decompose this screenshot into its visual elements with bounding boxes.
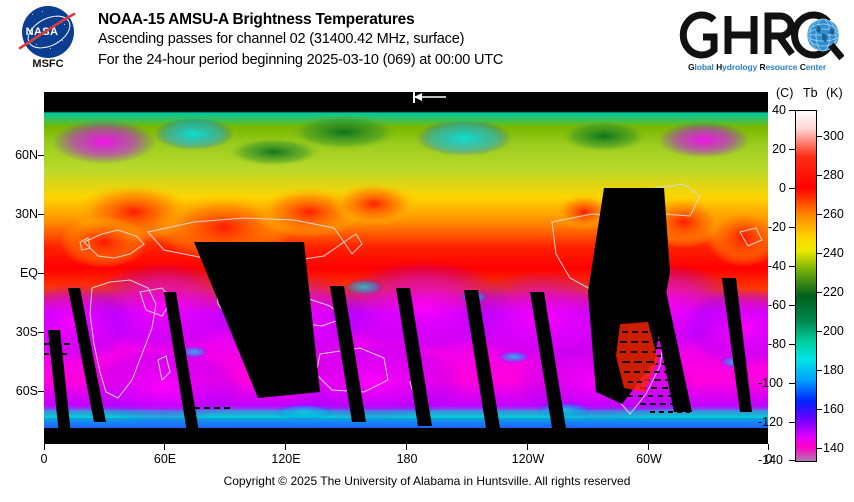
cb-tick-k-180 bbox=[816, 370, 822, 371]
cb-tick-k-260 bbox=[816, 214, 822, 215]
lon-label-180: 180 bbox=[384, 452, 430, 466]
copyright-notice: Copyright © 2025 The University of Alaba… bbox=[0, 474, 854, 488]
cb-label-k-220: 220 bbox=[823, 285, 854, 299]
cb-tick-c-m140 bbox=[789, 460, 795, 461]
cb-tick-c-0 bbox=[789, 188, 795, 189]
cb-label-k-160: 160 bbox=[823, 402, 854, 416]
lon-tick-120e bbox=[285, 444, 286, 450]
swath-direction-arrow-icon bbox=[408, 92, 448, 104]
lon-tick-60e bbox=[164, 444, 165, 450]
cb-tick-c-m80 bbox=[789, 344, 795, 345]
brightness-temperature-figure: NASA MSFC NOAA-15 AMSU-A Brightness Temp… bbox=[0, 0, 854, 502]
lon-label-0: 0 bbox=[21, 452, 67, 466]
cb-label-k-280: 280 bbox=[823, 168, 854, 182]
lat-label-60s: 60S bbox=[0, 384, 38, 398]
cb-tick-k-240 bbox=[816, 253, 822, 254]
cb-tick-c-20 bbox=[789, 149, 795, 150]
cb-label-c-m80: -80 bbox=[752, 337, 786, 351]
lon-label-60e: 60E bbox=[142, 452, 188, 466]
cb-tick-c-m120 bbox=[789, 422, 795, 423]
page-subtitle: Ascending passes for channel 02 (31400.4… bbox=[98, 29, 503, 50]
cb-tick-k-160 bbox=[816, 409, 822, 410]
nasa-center-label: MSFC bbox=[16, 58, 80, 70]
cb-label-c-40: 40 bbox=[752, 103, 786, 117]
nasa-swoosh-icon bbox=[16, 12, 80, 52]
cb-label-c-m60: -60 bbox=[752, 298, 786, 312]
lat-label-60n: 60N bbox=[0, 148, 38, 162]
cb-tick-k-280 bbox=[816, 175, 822, 176]
colorbar-unit-celsius: (C) bbox=[776, 86, 793, 100]
colorbar-gradient bbox=[796, 111, 816, 461]
lat-label-eq: EQ bbox=[0, 266, 38, 280]
cb-tick-c-m20 bbox=[789, 227, 795, 228]
lon-tick-360 bbox=[768, 444, 769, 450]
cb-tick-k-220 bbox=[816, 292, 822, 293]
cb-label-k-300: 300 bbox=[823, 129, 854, 143]
cb-label-c-m100: -100 bbox=[749, 376, 783, 390]
cb-tick-c-m40 bbox=[789, 266, 795, 267]
nasa-logo: NASA MSFC bbox=[16, 6, 80, 70]
lon-tick-180 bbox=[406, 444, 407, 450]
cb-tick-k-300 bbox=[816, 136, 822, 137]
colorbar-quantity: Tb bbox=[803, 86, 818, 100]
title-block: NOAA-15 AMSU-A Brightness Temperatures A… bbox=[98, 10, 503, 71]
lat-tick-30n bbox=[38, 214, 44, 215]
cb-label-c-20: 20 bbox=[752, 142, 786, 156]
cb-label-k-200: 200 bbox=[823, 324, 854, 338]
cb-tick-c-m60 bbox=[789, 305, 795, 306]
colorbar bbox=[795, 110, 817, 462]
cb-label-c-m120: -120 bbox=[749, 415, 783, 429]
cb-label-c-m20: -20 bbox=[752, 220, 786, 234]
lat-tick-30s bbox=[38, 332, 44, 333]
ghrc-logo: Global Hydrology Resource Center bbox=[676, 6, 846, 78]
cb-label-k-140: 140 bbox=[823, 441, 854, 455]
ghrc-wordmark-icon bbox=[676, 6, 844, 64]
cb-tick-c-40 bbox=[789, 110, 795, 111]
lat-tick-60n bbox=[38, 155, 44, 156]
cb-label-k-260: 260 bbox=[823, 207, 854, 221]
page-period: For the 24-hour period beginning 2025-03… bbox=[98, 50, 503, 71]
ghrc-tagline: Global Hydrology Resource Center bbox=[676, 62, 838, 72]
cb-tick-k-200 bbox=[816, 331, 822, 332]
lat-tick-eq bbox=[38, 273, 44, 274]
lat-label-30n: 30N bbox=[0, 207, 38, 221]
cb-label-c-m40: -40 bbox=[752, 259, 786, 273]
lon-tick-60w bbox=[648, 444, 649, 450]
cb-tick-c-m100 bbox=[789, 383, 795, 384]
cb-label-k-180: 180 bbox=[823, 363, 854, 377]
lat-label-30s: 30S bbox=[0, 325, 38, 339]
cb-label-k-240: 240 bbox=[823, 246, 854, 260]
lon-label-120w: 120W bbox=[505, 452, 551, 466]
brightness-temperature-map bbox=[44, 92, 768, 444]
cb-label-c-m140: -140 bbox=[749, 453, 783, 467]
lon-tick-120w bbox=[527, 444, 528, 450]
colorbar-unit-kelvin: (K) bbox=[826, 86, 843, 100]
map-panel bbox=[44, 92, 768, 444]
lon-label-60w: 60W bbox=[626, 452, 672, 466]
page-title: NOAA-15 AMSU-A Brightness Temperatures bbox=[98, 10, 503, 29]
lat-tick-60s bbox=[38, 391, 44, 392]
lon-label-120e: 120E bbox=[263, 452, 309, 466]
cb-tick-k-140 bbox=[816, 448, 822, 449]
cb-label-c-0: 0 bbox=[752, 181, 786, 195]
lon-tick-0 bbox=[44, 444, 45, 450]
